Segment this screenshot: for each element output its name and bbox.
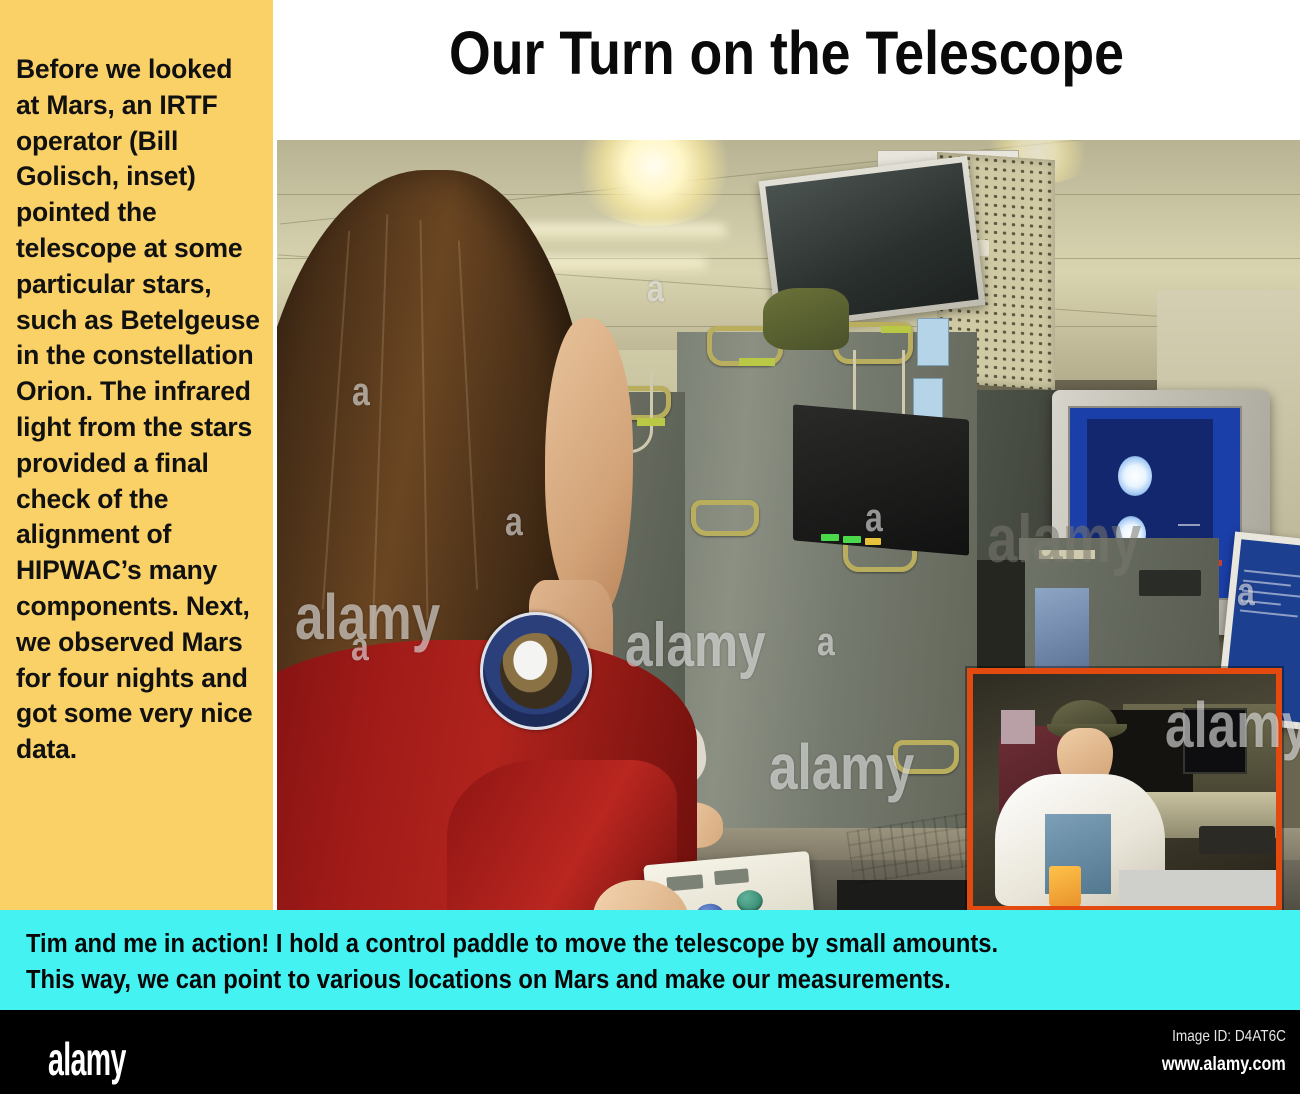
inset-keyboard xyxy=(1199,826,1275,854)
tower-slot xyxy=(1139,570,1201,596)
caption-line-1: Tim and me in action! I hold a control p… xyxy=(26,926,1211,962)
slide-canvas: Our Turn on the Telescope Before we look… xyxy=(0,0,1300,1010)
mauna-kea-patch xyxy=(480,612,592,730)
rack-green-tarp xyxy=(763,288,849,350)
inset-orange-cup xyxy=(1049,866,1081,908)
inset-wall-photo xyxy=(1001,710,1035,744)
status-led-amber xyxy=(865,538,881,545)
page-title: Our Turn on the Telescope xyxy=(335,18,1239,88)
sidebar-panel: Before we looked at Mars, an IRTF operat… xyxy=(0,0,273,910)
sidebar-body-text: Before we looked at Mars, an IRTF operat… xyxy=(16,52,261,768)
instrument-black-box xyxy=(793,404,969,555)
paddle-bar-1[interactable] xyxy=(666,874,703,891)
caption-band: Tim and me in action! I hold a control p… xyxy=(0,910,1300,1010)
rack-blue-label-1 xyxy=(917,318,949,366)
caption-line-2: This way, we can point to various locati… xyxy=(26,962,1211,998)
alamy-logo[interactable]: alamy xyxy=(48,1032,126,1086)
status-led-green-1 xyxy=(821,534,839,541)
status-led-green-2 xyxy=(843,536,861,543)
rack-blue-label-2 xyxy=(913,378,943,420)
title-band: Our Turn on the Telescope xyxy=(273,0,1300,140)
main-photograph: a a a a alamy alamy a alamy a a alamy a … xyxy=(277,140,1300,910)
tower-label xyxy=(1039,550,1095,559)
inset-side-monitor xyxy=(1183,708,1247,774)
woman-face xyxy=(545,318,633,618)
star-image-blob-1 xyxy=(1118,456,1152,496)
paddle-button-blue-1[interactable] xyxy=(695,903,725,910)
rack-green-label-3 xyxy=(637,418,665,426)
rack-handle-6 xyxy=(893,740,959,774)
paddle-button-green[interactable] xyxy=(736,889,764,910)
image-id-label: Image ID: D4AT6C xyxy=(1172,1028,1286,1046)
screenshot-root: Our Turn on the Telescope Before we look… xyxy=(0,0,1300,1094)
inset-photo-bill-golisch xyxy=(967,668,1282,910)
rack-green-label-1 xyxy=(739,358,775,366)
paddle-bar-2[interactable] xyxy=(714,868,749,885)
website-label[interactable]: www.alamy.com xyxy=(1162,1054,1286,1076)
rack-green-label-2 xyxy=(881,326,911,333)
stock-footer-bar: alamy Image ID: D4AT6C www.alamy.com xyxy=(0,1010,1300,1094)
inset-foreground-monitor xyxy=(1119,870,1279,910)
rack-handle-5 xyxy=(691,500,759,536)
